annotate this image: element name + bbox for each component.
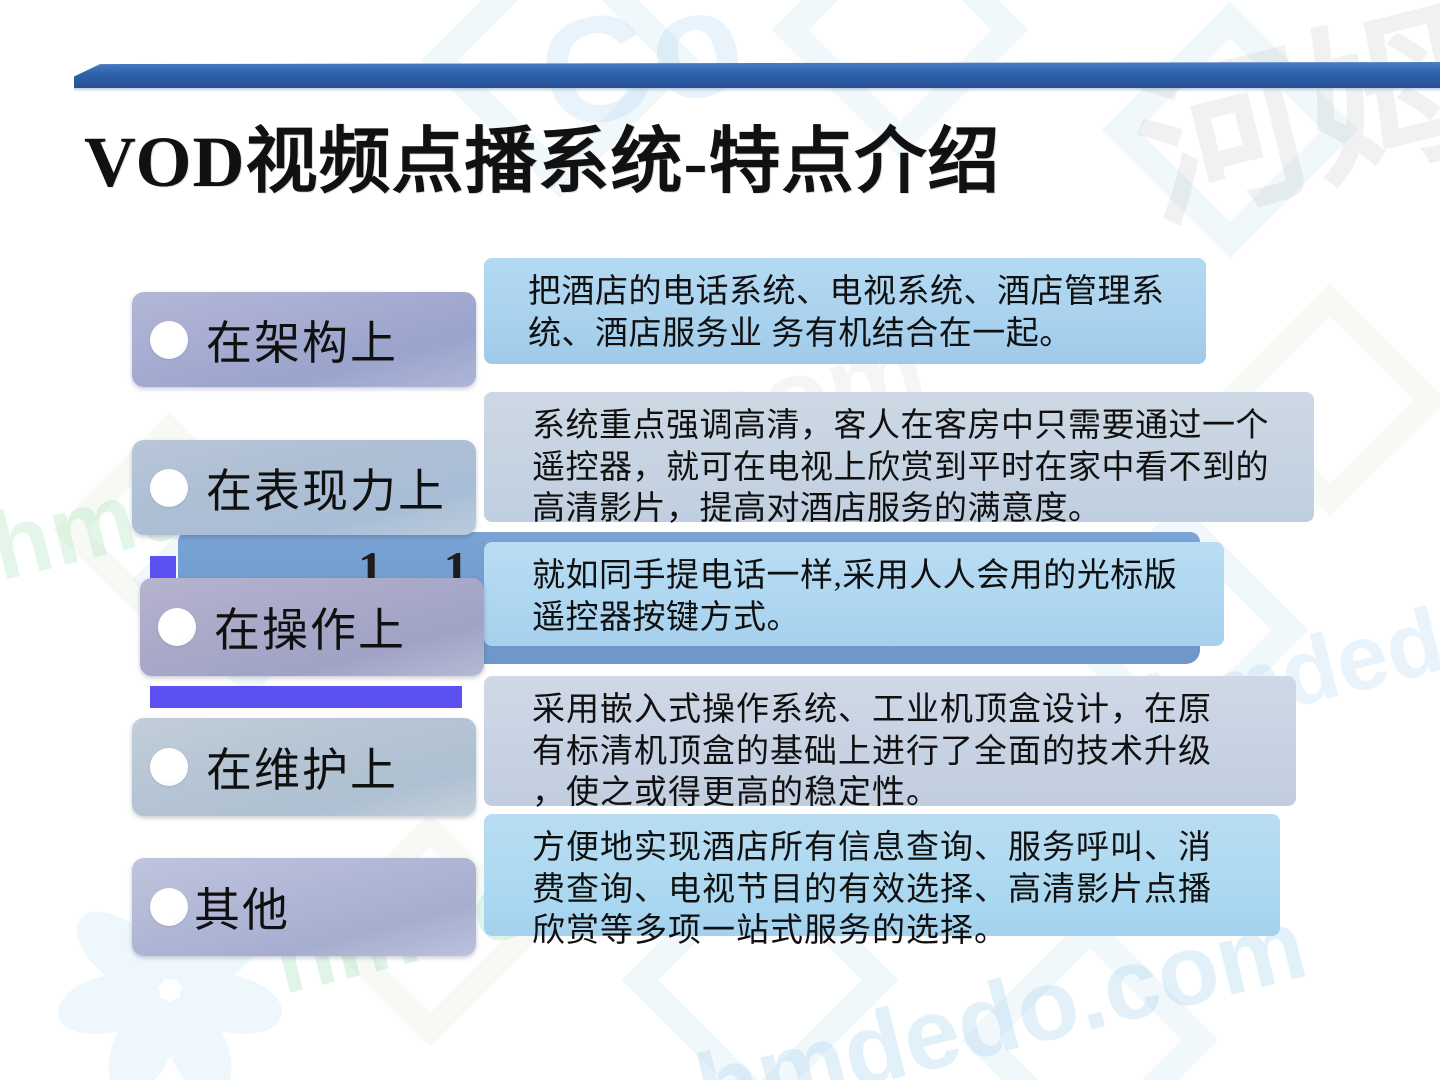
category-pill-label: 其他 bbox=[194, 874, 290, 940]
category-pill-maintenance[interactable]: 在维护上 bbox=[132, 718, 476, 816]
category-pill-label: 在操作上 bbox=[214, 594, 406, 660]
header-bar-shadow bbox=[74, 88, 1440, 92]
content-line: ，使之或得更高的稳定性。 bbox=[532, 773, 1276, 815]
category-pill-architecture[interactable]: 在架构上 bbox=[132, 292, 476, 387]
content-line: 高清影片，提高对酒店服务的满意度。 bbox=[532, 489, 1294, 531]
content-line: 有标清机顶盒的基础上进行了全面的技术升级 bbox=[532, 732, 1276, 774]
content-box-2: 系统重点强调高清，客人在客房中只需要通过一个 遥控器，就可在电视上欣赏到平时在家… bbox=[484, 392, 1314, 522]
category-pill-presentation[interactable]: 在表现力上 bbox=[132, 440, 476, 535]
header-bar-fill bbox=[74, 62, 1440, 88]
category-pill-label: 在表现力上 bbox=[206, 455, 446, 521]
content-line: 费查询、电视节目的有效选择、高清影片点播 bbox=[532, 870, 1260, 912]
content-line: 系统重点强调高清，客人在客房中只需要通过一个 bbox=[532, 406, 1294, 448]
content-box-4: 采用嵌入式操作系统、工业机顶盒设计，在原 有标清机顶盒的基础上进行了全面的技术升… bbox=[484, 676, 1296, 806]
page-title: VOD视频点播系统-特点介绍 bbox=[84, 125, 1001, 201]
category-pill-operation[interactable]: 在操作上 bbox=[140, 578, 484, 676]
content-box-1: 把酒店的电话系统、电视系统、酒店管理系 统、酒店服务业 务有机结合在一起。 bbox=[484, 258, 1206, 364]
bullet-dot-icon bbox=[150, 469, 188, 507]
slide-root: 河姆渡 Co hmd com hmdcom hmdedo.com hmdedo.… bbox=[0, 0, 1440, 1080]
bullet-dot-icon bbox=[158, 608, 196, 646]
accent-bar bbox=[150, 686, 462, 708]
content-line: 就如同手提电话一样,采用人人会用的光标版 bbox=[532, 556, 1204, 598]
category-pill-other[interactable]: 其他 bbox=[132, 858, 476, 956]
content-line: 方便地实现酒店所有信息查询、服务呼叫、消 bbox=[532, 828, 1260, 870]
bullet-dot-icon bbox=[150, 888, 188, 926]
content-box-3: 就如同手提电话一样,采用人人会用的光标版 遥控器按键方式。 bbox=[484, 542, 1224, 646]
category-pill-label: 在架构上 bbox=[206, 307, 398, 373]
category-pill-label: 在维护上 bbox=[206, 734, 398, 800]
bullet-dot-icon bbox=[150, 321, 188, 359]
content-line: 统、酒店服务业 务有机结合在一起。 bbox=[528, 314, 1186, 356]
content-line: 把酒店的电话系统、电视系统、酒店管理系 bbox=[528, 272, 1186, 314]
content-line: 遥控器，就可在电视上欣赏到平时在家中看不到的 bbox=[532, 448, 1294, 490]
content-box-5: 方便地实现酒店所有信息查询、服务呼叫、消 费查询、电视节目的有效选择、高清影片点… bbox=[484, 814, 1280, 936]
bullet-dot-icon bbox=[150, 748, 188, 786]
watermark-cn-top: 河姆渡 bbox=[1108, 0, 1440, 264]
content-line: 采用嵌入式操作系统、工业机顶盒设计，在原 bbox=[532, 690, 1276, 732]
content-line: 遥控器按键方式。 bbox=[532, 598, 1204, 640]
content-line: 欣赏等多项一站式服务的选择。 bbox=[532, 911, 1260, 953]
header-decor-bar bbox=[74, 62, 1440, 88]
